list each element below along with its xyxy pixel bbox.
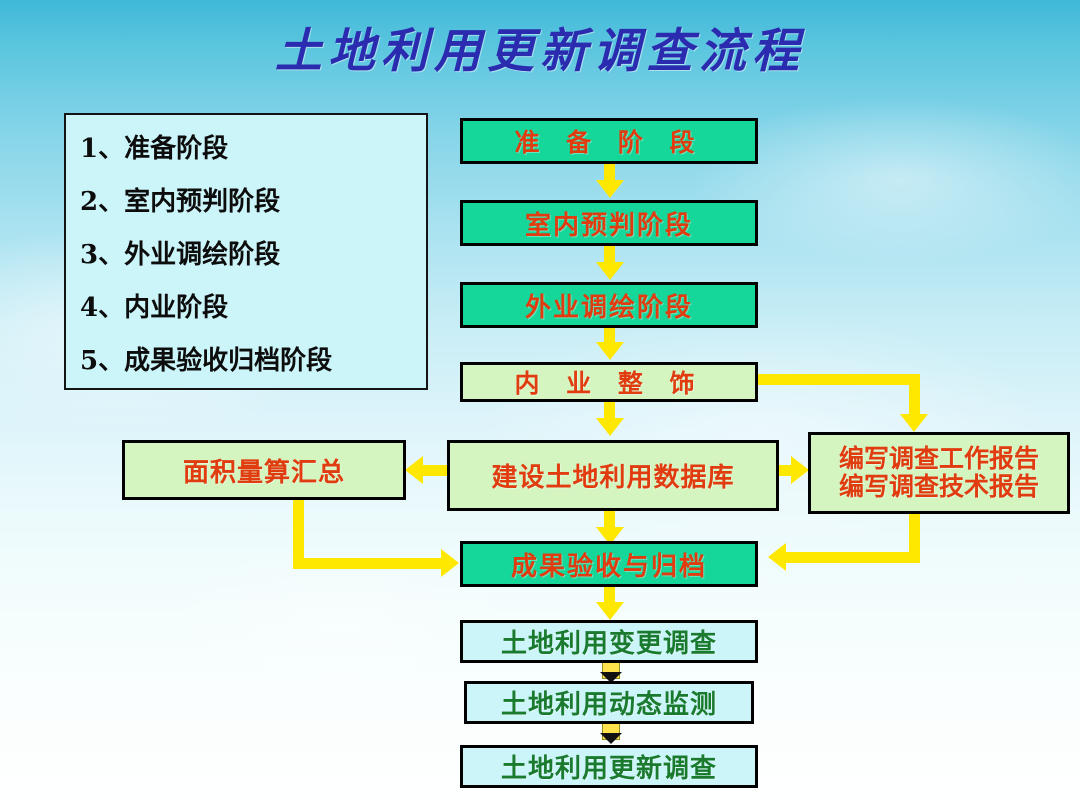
flow-node-label: 面积量算汇总 (183, 452, 345, 489)
slide-canvas: 土地利用更新调查流程 1、准备阶段 2、室内预判阶段 3、外业调绘阶段 4、内业… (0, 0, 1080, 810)
arrow-left-icon (768, 543, 786, 571)
arrow-down-icon (596, 602, 624, 620)
page-title: 土地利用更新调查流程 (0, 12, 1080, 81)
flow-node-label: 成果验收与归档 (511, 546, 707, 583)
list-item: 5、成果验收归档阶段 (66, 335, 426, 388)
connector-area-to-acceptance-h (293, 558, 449, 569)
flow-node-interior[interactable]: 内 业 整 饰 (460, 362, 758, 402)
flow-node-label: 内 业 整 饰 (514, 364, 703, 400)
arrow-down-icon (596, 342, 624, 360)
arrow-down-icon (600, 733, 622, 744)
flow-node-dynamic-monitoring[interactable]: 土地利用动态监测 (464, 681, 754, 724)
flow-node-label-line1: 编写调查工作报告 (839, 445, 1039, 473)
flow-node-label: 建设土地利用数据库 (491, 457, 734, 494)
arrow-down-icon (596, 418, 624, 436)
flow-node-update-survey[interactable]: 土地利用更新调查 (460, 745, 758, 788)
flow-node-label: 准 备 阶 段 (514, 123, 703, 159)
flow-node-database[interactable]: 建设土地利用数据库 (447, 440, 779, 511)
flow-node-field[interactable]: 外业调绘阶段 (460, 282, 758, 328)
arrow-left-icon (405, 456, 423, 484)
arrow-down-icon (596, 180, 624, 198)
arrow-down-icon (900, 414, 928, 432)
connector-interior-to-report-v (909, 374, 920, 419)
arrow-right-icon (791, 456, 809, 484)
flow-node-change-survey[interactable]: 土地利用变更调查 (460, 620, 758, 663)
arrow-right-icon (441, 549, 459, 577)
flow-node-label: 土地利用更新调查 (501, 748, 717, 785)
flow-node-label: 土地利用动态监测 (501, 684, 717, 721)
flow-node-indoor[interactable]: 室内预判阶段 (460, 200, 758, 246)
flow-node-label: 外业调绘阶段 (525, 287, 693, 324)
list-item: 4、内业阶段 (66, 282, 426, 335)
connector-report-to-acceptance-h (786, 552, 920, 563)
list-item: 1、准备阶段 (66, 123, 426, 176)
flow-node-area[interactable]: 面积量算汇总 (122, 440, 406, 500)
arrow-down-icon (596, 262, 624, 280)
flow-node-prep[interactable]: 准 备 阶 段 (460, 118, 758, 164)
list-item: 3、外业调绘阶段 (66, 229, 426, 282)
flow-node-reports[interactable]: 编写调查工作报告 编写调查技术报告 (808, 432, 1070, 514)
list-item: 2、室内预判阶段 (66, 176, 426, 229)
flow-node-label: 室内预判阶段 (525, 205, 693, 242)
flow-node-acceptance[interactable]: 成果验收与归档 (460, 541, 758, 587)
flow-node-label: 土地利用变更调查 (501, 623, 717, 660)
connector-interior-to-report-h (757, 374, 920, 385)
stage-list-panel: 1、准备阶段 2、室内预判阶段 3、外业调绘阶段 4、内业阶段 5、成果验收归档… (64, 113, 428, 390)
flow-node-label-line2: 编写调查技术报告 (839, 473, 1039, 501)
